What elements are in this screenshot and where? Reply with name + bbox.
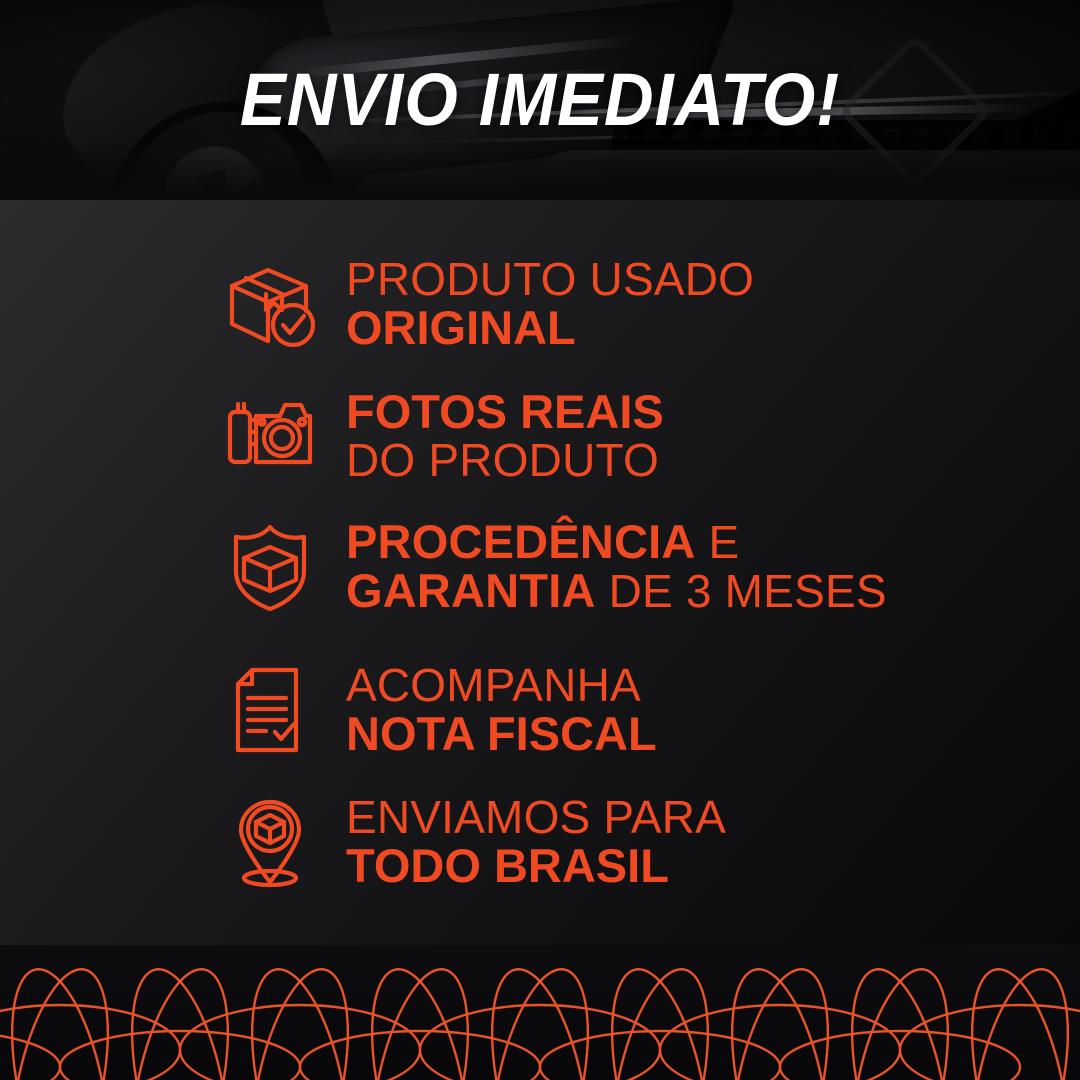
- feature-line-1-bold: PROCEDÊNCIA: [346, 515, 696, 568]
- feature-text-block: ACOMPANHA NOTA FISCAL: [346, 662, 657, 759]
- feature-line-2: DO PRODUTO: [346, 437, 664, 485]
- feature-line-2: GARANTIA DE 3 MESES: [346, 567, 887, 616]
- feature-text-block: PRODUTO USADO ORIGINAL: [346, 256, 754, 353]
- feature-line-1: ACOMPANHA: [346, 662, 657, 710]
- shield-box-icon: [222, 519, 318, 615]
- feature-line-2-regular: DE 3 MESES: [596, 565, 887, 617]
- car-wheel-spokes: [186, 170, 266, 200]
- header-banner: ENVIO IMEDIATO!: [0, 0, 1080, 200]
- map-pin-box-icon: [222, 794, 318, 890]
- feature-row-produto-usado: PRODUTO USADO ORIGINAL: [222, 256, 754, 353]
- camera-icon: [222, 388, 318, 484]
- feature-row-nota-fiscal: ACOMPANHA NOTA FISCAL: [222, 662, 657, 759]
- feature-line-1: PRODUTO USADO: [346, 256, 754, 304]
- feature-row-procedencia-garantia: PROCEDÊNCIA E GARANTIA DE 3 MESES: [222, 518, 887, 616]
- feature-text-block: PROCEDÊNCIA E GARANTIA DE 3 MESES: [346, 518, 887, 616]
- feature-line-2-bold: GARANTIA: [346, 564, 596, 617]
- feature-row-fotos-reais: FOTOS REAIS DO PRODUTO: [222, 388, 664, 485]
- ornament-lattice: [0, 961, 1080, 1080]
- box-check-icon: [222, 256, 318, 352]
- feature-line-1: ENVIAMOS PARA: [346, 794, 726, 842]
- feature-line-1: FOTOS REAIS: [346, 388, 664, 437]
- features-panel: PRODUTO USADO ORIGINAL: [0, 200, 1080, 945]
- feature-line-1: PROCEDÊNCIA E: [346, 518, 887, 567]
- header-bottom-fade: [0, 140, 1080, 200]
- feature-line-2: TODO BRASIL: [346, 842, 726, 891]
- feature-line-2: ORIGINAL: [346, 304, 754, 353]
- invoice-document-icon: [222, 662, 318, 758]
- header-title: ENVIO IMEDIATO!: [38, 58, 1042, 142]
- feature-line-1-regular: E: [696, 516, 740, 568]
- feature-text-block: FOTOS REAIS DO PRODUTO: [346, 388, 664, 485]
- promo-banner: ENVIO IMEDIATO! PROD: [0, 0, 1080, 1080]
- feature-row-todo-brasil: ENVIAMOS PARA TODO BRASIL: [222, 794, 726, 891]
- feature-line-2: NOTA FISCAL: [346, 710, 657, 759]
- car-bumper: [515, 150, 1080, 200]
- feature-text-block: ENVIAMOS PARA TODO BRASIL: [346, 794, 726, 891]
- footer-ornament: [0, 945, 1080, 1080]
